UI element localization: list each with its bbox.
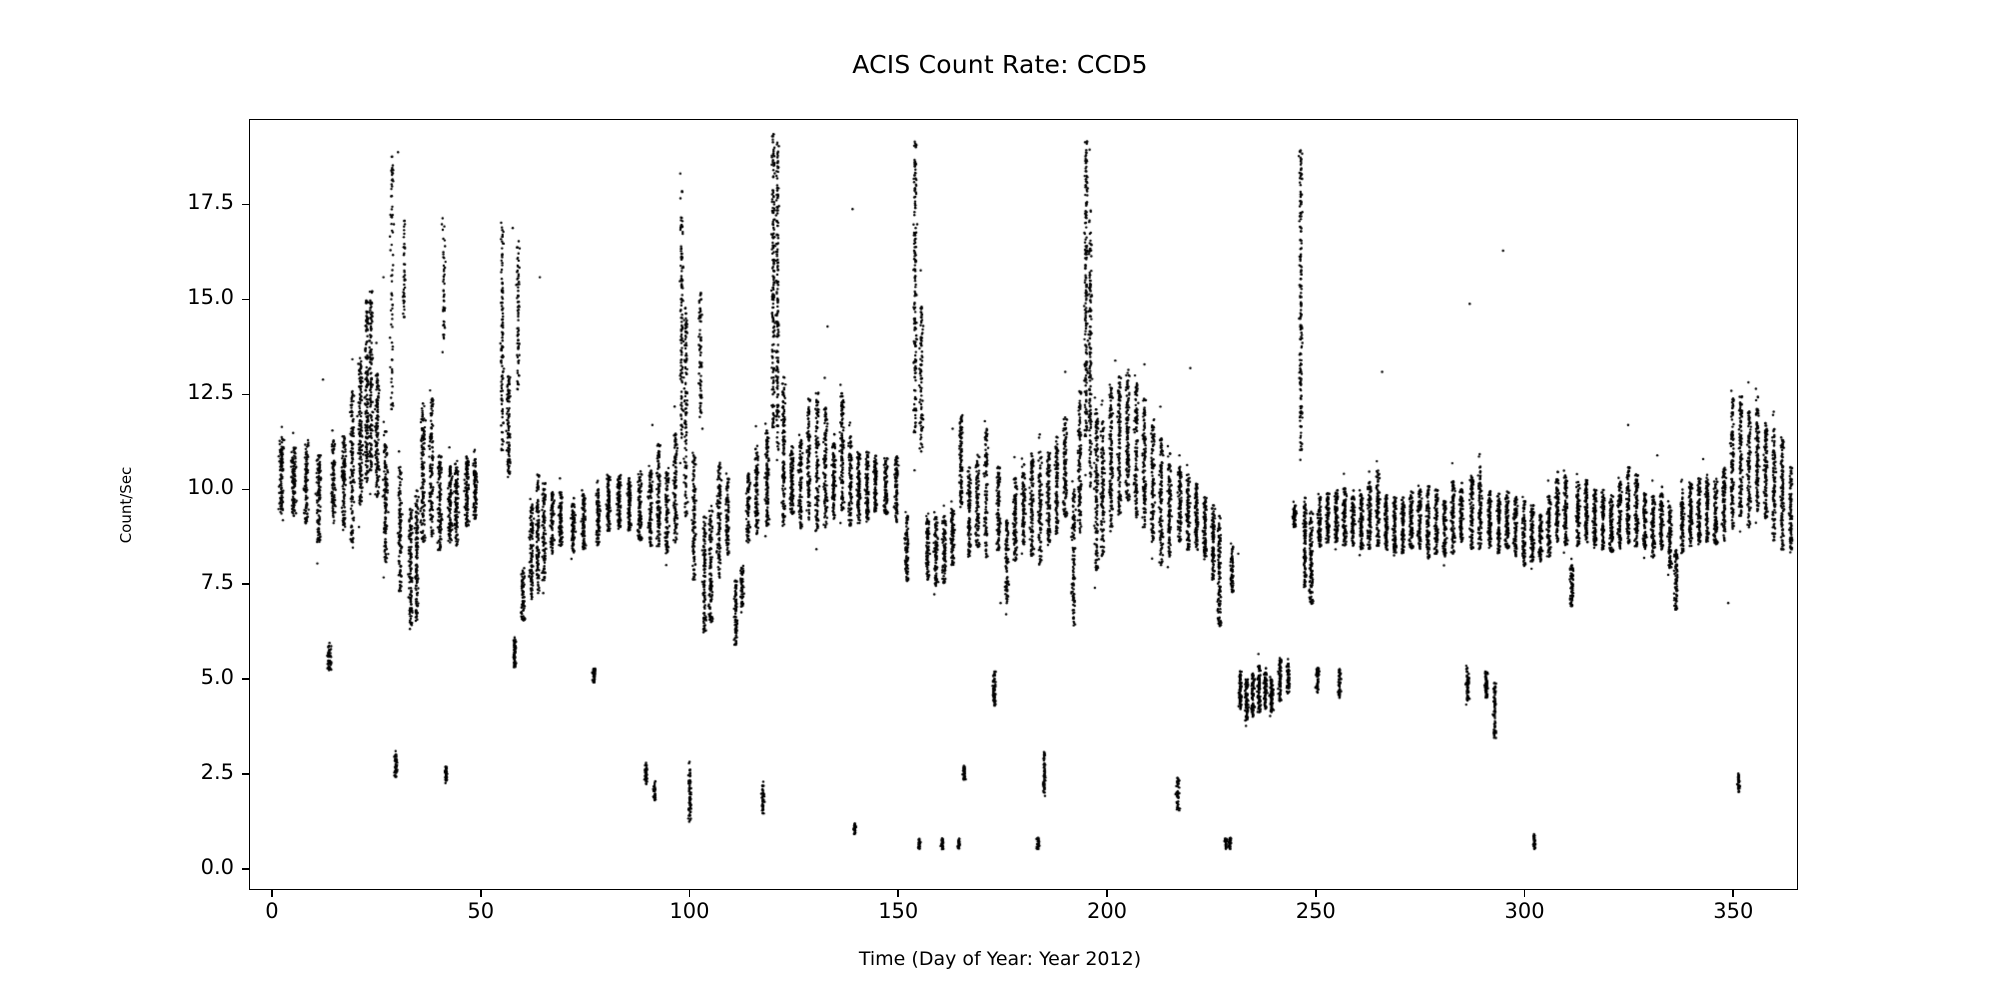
y-axis-tick-mark [242, 489, 249, 491]
y-axis-tick-label: 17.5 [154, 190, 234, 214]
y-axis-tick-label: 10.0 [154, 475, 234, 499]
x-axis-tick-mark [689, 890, 691, 897]
y-axis-label: Count/Sec [117, 466, 135, 543]
y-axis-tick-label: 0.0 [154, 855, 234, 879]
scatter-plot-canvas [250, 120, 1797, 889]
x-axis-tick-label: 50 [421, 899, 541, 923]
x-axis-tick-label: 300 [1465, 899, 1585, 923]
y-axis-tick-mark [242, 583, 249, 585]
x-axis-tick-label: 250 [1256, 899, 1376, 923]
y-axis-tick-label: 2.5 [154, 760, 234, 784]
y-axis-tick-label: 12.5 [154, 380, 234, 404]
x-axis-tick-label: 350 [1673, 899, 1793, 923]
x-axis-tick-label: 150 [838, 899, 958, 923]
y-axis-tick-mark [242, 868, 249, 870]
y-axis-tick-mark [242, 773, 249, 775]
x-axis-tick-mark [1524, 890, 1526, 897]
x-axis-tick-label: 0 [212, 899, 332, 923]
y-axis-tick-label: 5.0 [154, 665, 234, 689]
chart-figure: ACIS Count Rate: CCD5 0.02.55.07.510.012… [0, 0, 2000, 1000]
y-axis-tick-mark [242, 394, 249, 396]
x-axis-tick-label: 100 [629, 899, 749, 923]
x-axis-tick-mark [1315, 890, 1317, 897]
y-axis-tick-mark [242, 299, 249, 301]
y-axis-tick-mark [242, 678, 249, 680]
x-axis-tick-mark [480, 890, 482, 897]
x-axis-tick-mark [1732, 890, 1734, 897]
x-axis-label: Time (Day of Year: Year 2012) [0, 948, 2000, 970]
x-axis-tick-mark [897, 890, 899, 897]
y-axis-tick-mark [242, 204, 249, 206]
x-axis-tick-mark [271, 890, 273, 897]
x-axis-tick-label: 200 [1047, 899, 1167, 923]
plot-area [249, 119, 1798, 890]
chart-title: ACIS Count Rate: CCD5 [0, 50, 2000, 79]
x-axis-tick-mark [1106, 890, 1108, 897]
y-axis-tick-label: 7.5 [154, 570, 234, 594]
y-axis-tick-label: 15.0 [154, 285, 234, 309]
